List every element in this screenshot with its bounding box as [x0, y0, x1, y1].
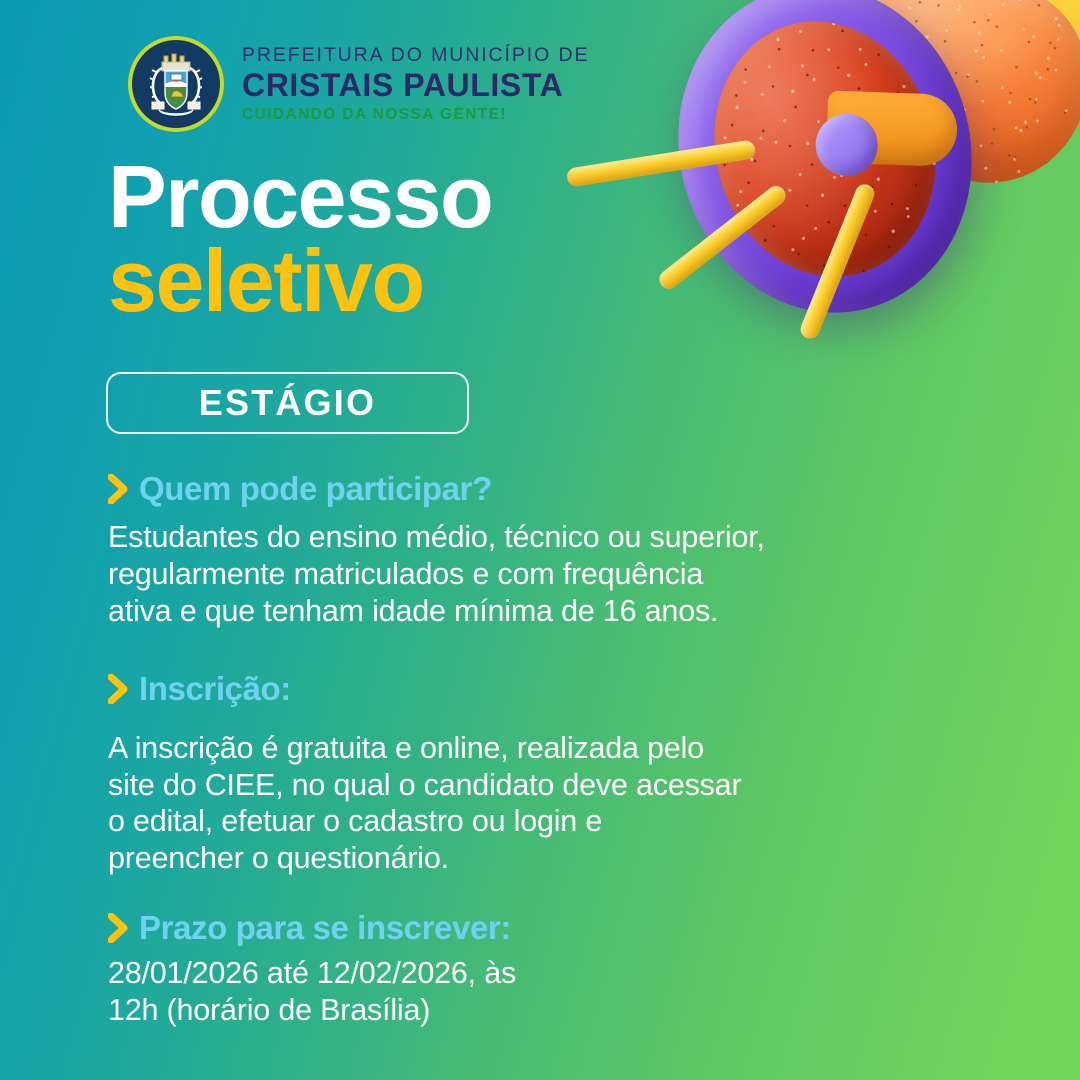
chevron-right-icon	[108, 913, 130, 943]
estagio-badge: ESTÁGIO	[106, 372, 469, 434]
sound-line-2-icon	[656, 182, 790, 292]
title-line-processo: Processo	[108, 156, 492, 238]
body-line: 12h (horário de Brasília)	[108, 992, 908, 1029]
logo-line-slogan: CUIDANDO DA NOSSA GENTE!	[242, 101, 589, 123]
megaphone-illustration	[560, 0, 1080, 440]
megaphone-knob	[808, 107, 885, 184]
chevron-right-icon	[108, 474, 130, 504]
body-line: ativa e que tenham idade mínima de 16 an…	[108, 593, 908, 630]
megaphone-inner-cone	[826, 90, 958, 166]
section-body-inscricao: A inscrição é gratuita e online, realiza…	[108, 730, 908, 878]
megaphone-body	[784, 0, 1080, 210]
section-heading-label: Inscrição:	[139, 670, 291, 708]
body-line: Estudantes do ensino médio, técnico ou s…	[108, 519, 908, 556]
poster-canvas: PREFEITURA DO MUNICÍPIO DE CRISTAIS PAUL…	[0, 0, 1080, 1080]
body-line: o edital, efetuar o cadastro ou login e	[108, 803, 908, 840]
body-line: regularmente matriculados e com frequênc…	[108, 556, 908, 593]
section-heading-label: Quem pode participar?	[139, 470, 492, 508]
content-column: Quem pode participar? Estudantes do ensi…	[108, 470, 908, 1029]
chevron-right-icon	[108, 674, 130, 704]
megaphone-handle	[898, 0, 1080, 121]
body-line: A inscrição é gratuita e online, realiza…	[108, 730, 908, 767]
coat-of-arms-icon	[128, 36, 224, 132]
municipality-logo: PREFEITURA DO MUNICÍPIO DE CRISTAIS PAUL…	[128, 36, 589, 132]
section-heading-quem-pode-participar: Quem pode participar?	[108, 470, 908, 508]
body-line: site do CIEE, no qual o candidato deve a…	[108, 767, 908, 804]
sound-line-3-icon	[798, 181, 877, 341]
logo-line-prefeitura: PREFEITURA DO MUNICÍPIO DE	[242, 46, 589, 70]
title-line-seletivo: seletivo	[108, 240, 492, 322]
body-line: 28/01/2026 até 12/02/2026, às	[108, 955, 908, 992]
logo-text-block: PREFEITURA DO MUNICÍPIO DE CRISTAIS PAUL…	[242, 46, 589, 123]
section-heading-prazo: Prazo para se inscrever:	[108, 909, 908, 947]
estagio-badge-label: ESTÁGIO	[199, 382, 376, 424]
body-line: preencher o questionário.	[108, 840, 908, 877]
sound-line-1-icon	[566, 139, 757, 187]
section-body-quem-pode-participar: Estudantes do ensino médio, técnico ou s…	[108, 519, 908, 630]
logo-line-city: CRISTAIS PAULISTA	[242, 69, 589, 101]
section-body-prazo: 28/01/2026 até 12/02/2026, às 12h (horár…	[108, 955, 908, 1029]
section-heading-label: Prazo para se inscrever:	[139, 909, 511, 947]
megaphone-cone-interior	[685, 0, 966, 303]
section-heading-inscricao: Inscrição:	[108, 670, 908, 708]
page-title: Processo seletivo	[108, 156, 492, 322]
megaphone-rim	[640, 0, 1010, 348]
